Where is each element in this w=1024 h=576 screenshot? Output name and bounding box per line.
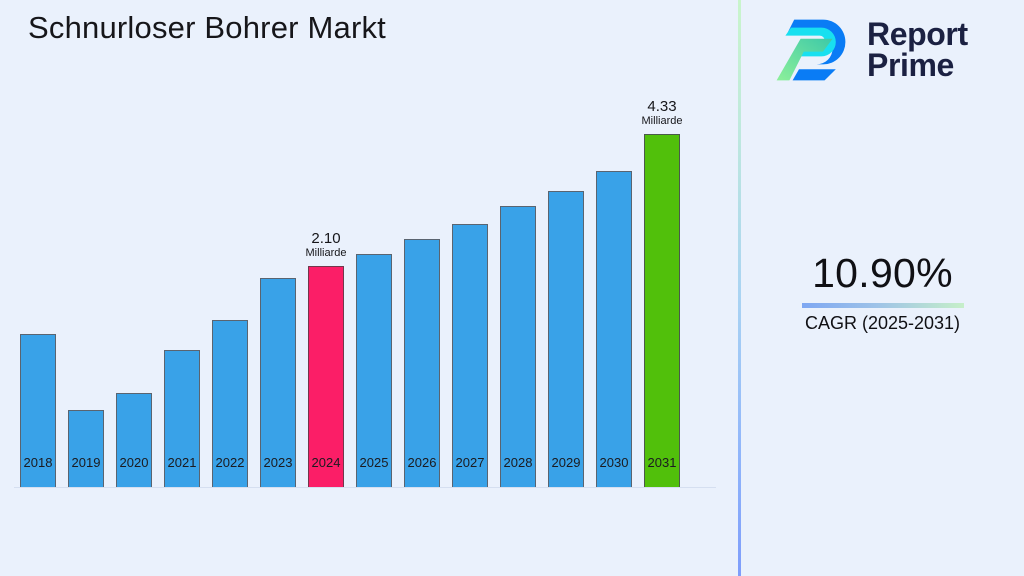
bar-2031[interactable] bbox=[644, 134, 680, 487]
x-axis-tick-2031: 2031 bbox=[632, 455, 692, 470]
bar-unit-2031: Milliarde bbox=[607, 116, 717, 128]
bar-value-label-2031: 4.33Milliarde bbox=[607, 99, 717, 128]
brand-logo: Report Prime bbox=[775, 10, 968, 90]
chart-page: Schnurloser Bohrer Markt 201820192020202… bbox=[0, 0, 1024, 576]
bar-2020[interactable] bbox=[116, 393, 152, 487]
bar-2019[interactable] bbox=[68, 410, 104, 487]
cagr-block: 10.90% CAGR (2025-2031) bbox=[741, 250, 1024, 334]
bar-value-2024: 2.10 bbox=[271, 231, 381, 247]
bar-2027[interactable] bbox=[452, 224, 488, 487]
bar-value-2031: 4.33 bbox=[607, 99, 717, 115]
brand-name: Report Prime bbox=[867, 19, 968, 82]
plot-area: 2018201920202021202220232.10Milliarde202… bbox=[0, 120, 738, 532]
brand-name-line2: Prime bbox=[867, 50, 968, 81]
cagr-divider-rule bbox=[802, 303, 964, 308]
cagr-value: 10.90% bbox=[741, 250, 1024, 297]
cagr-caption: CAGR (2025-2031) bbox=[741, 313, 1024, 334]
bar-2025[interactable] bbox=[356, 254, 392, 487]
sidebar-panel: Report Prime 10.90% CAGR (2025-2031) bbox=[741, 0, 1024, 576]
bar-2030[interactable] bbox=[596, 171, 632, 487]
brand-name-line1: Report bbox=[867, 19, 968, 50]
bar-2026[interactable] bbox=[404, 239, 440, 487]
bar-2029[interactable] bbox=[548, 191, 584, 487]
x-axis-line bbox=[14, 487, 716, 488]
bar-2028[interactable] bbox=[500, 206, 536, 487]
bar-chart: 2018201920202021202220232.10Milliarde202… bbox=[0, 0, 738, 576]
bar-2024[interactable] bbox=[308, 266, 344, 487]
report-prime-logo-icon bbox=[775, 10, 855, 90]
